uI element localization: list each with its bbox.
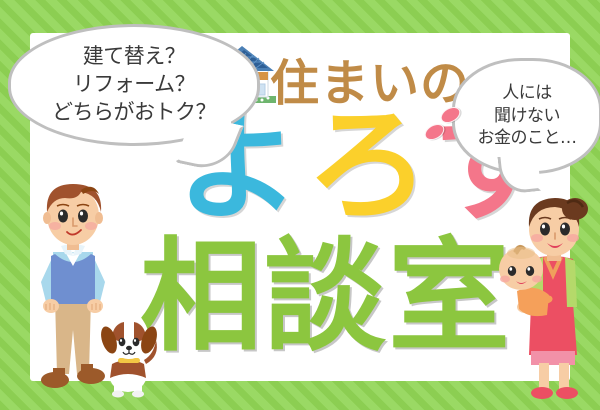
page-title-green: 相談室 bbox=[140, 236, 512, 358]
woman-holding-baby-illustration bbox=[487, 195, 591, 407]
bubble-left-line-1: 建て替え？ bbox=[83, 43, 186, 71]
question-bubble-left: 建て替え？ リフォーム？ どちらがおトク？ bbox=[8, 24, 260, 146]
bubble-right-line-3: お金のこと… bbox=[478, 127, 577, 149]
banner-stage: 建て替え？ リフォーム？ どちらがおトク？ 人には 聞けない お金のこと… bbox=[0, 0, 600, 410]
title-char-ro: ろ bbox=[306, 104, 436, 228]
bubble-right-line-2: 聞けない bbox=[494, 105, 560, 127]
bubble-right-line-1: 人には bbox=[502, 82, 552, 104]
bubble-left-line-3: どちらがおトク？ bbox=[52, 99, 216, 127]
beagle-dog-illustration bbox=[100, 312, 162, 398]
question-bubble-right: 人には 聞けない お金のこと… bbox=[452, 58, 600, 174]
bubble-left-line-2: リフォーム？ bbox=[73, 71, 195, 99]
